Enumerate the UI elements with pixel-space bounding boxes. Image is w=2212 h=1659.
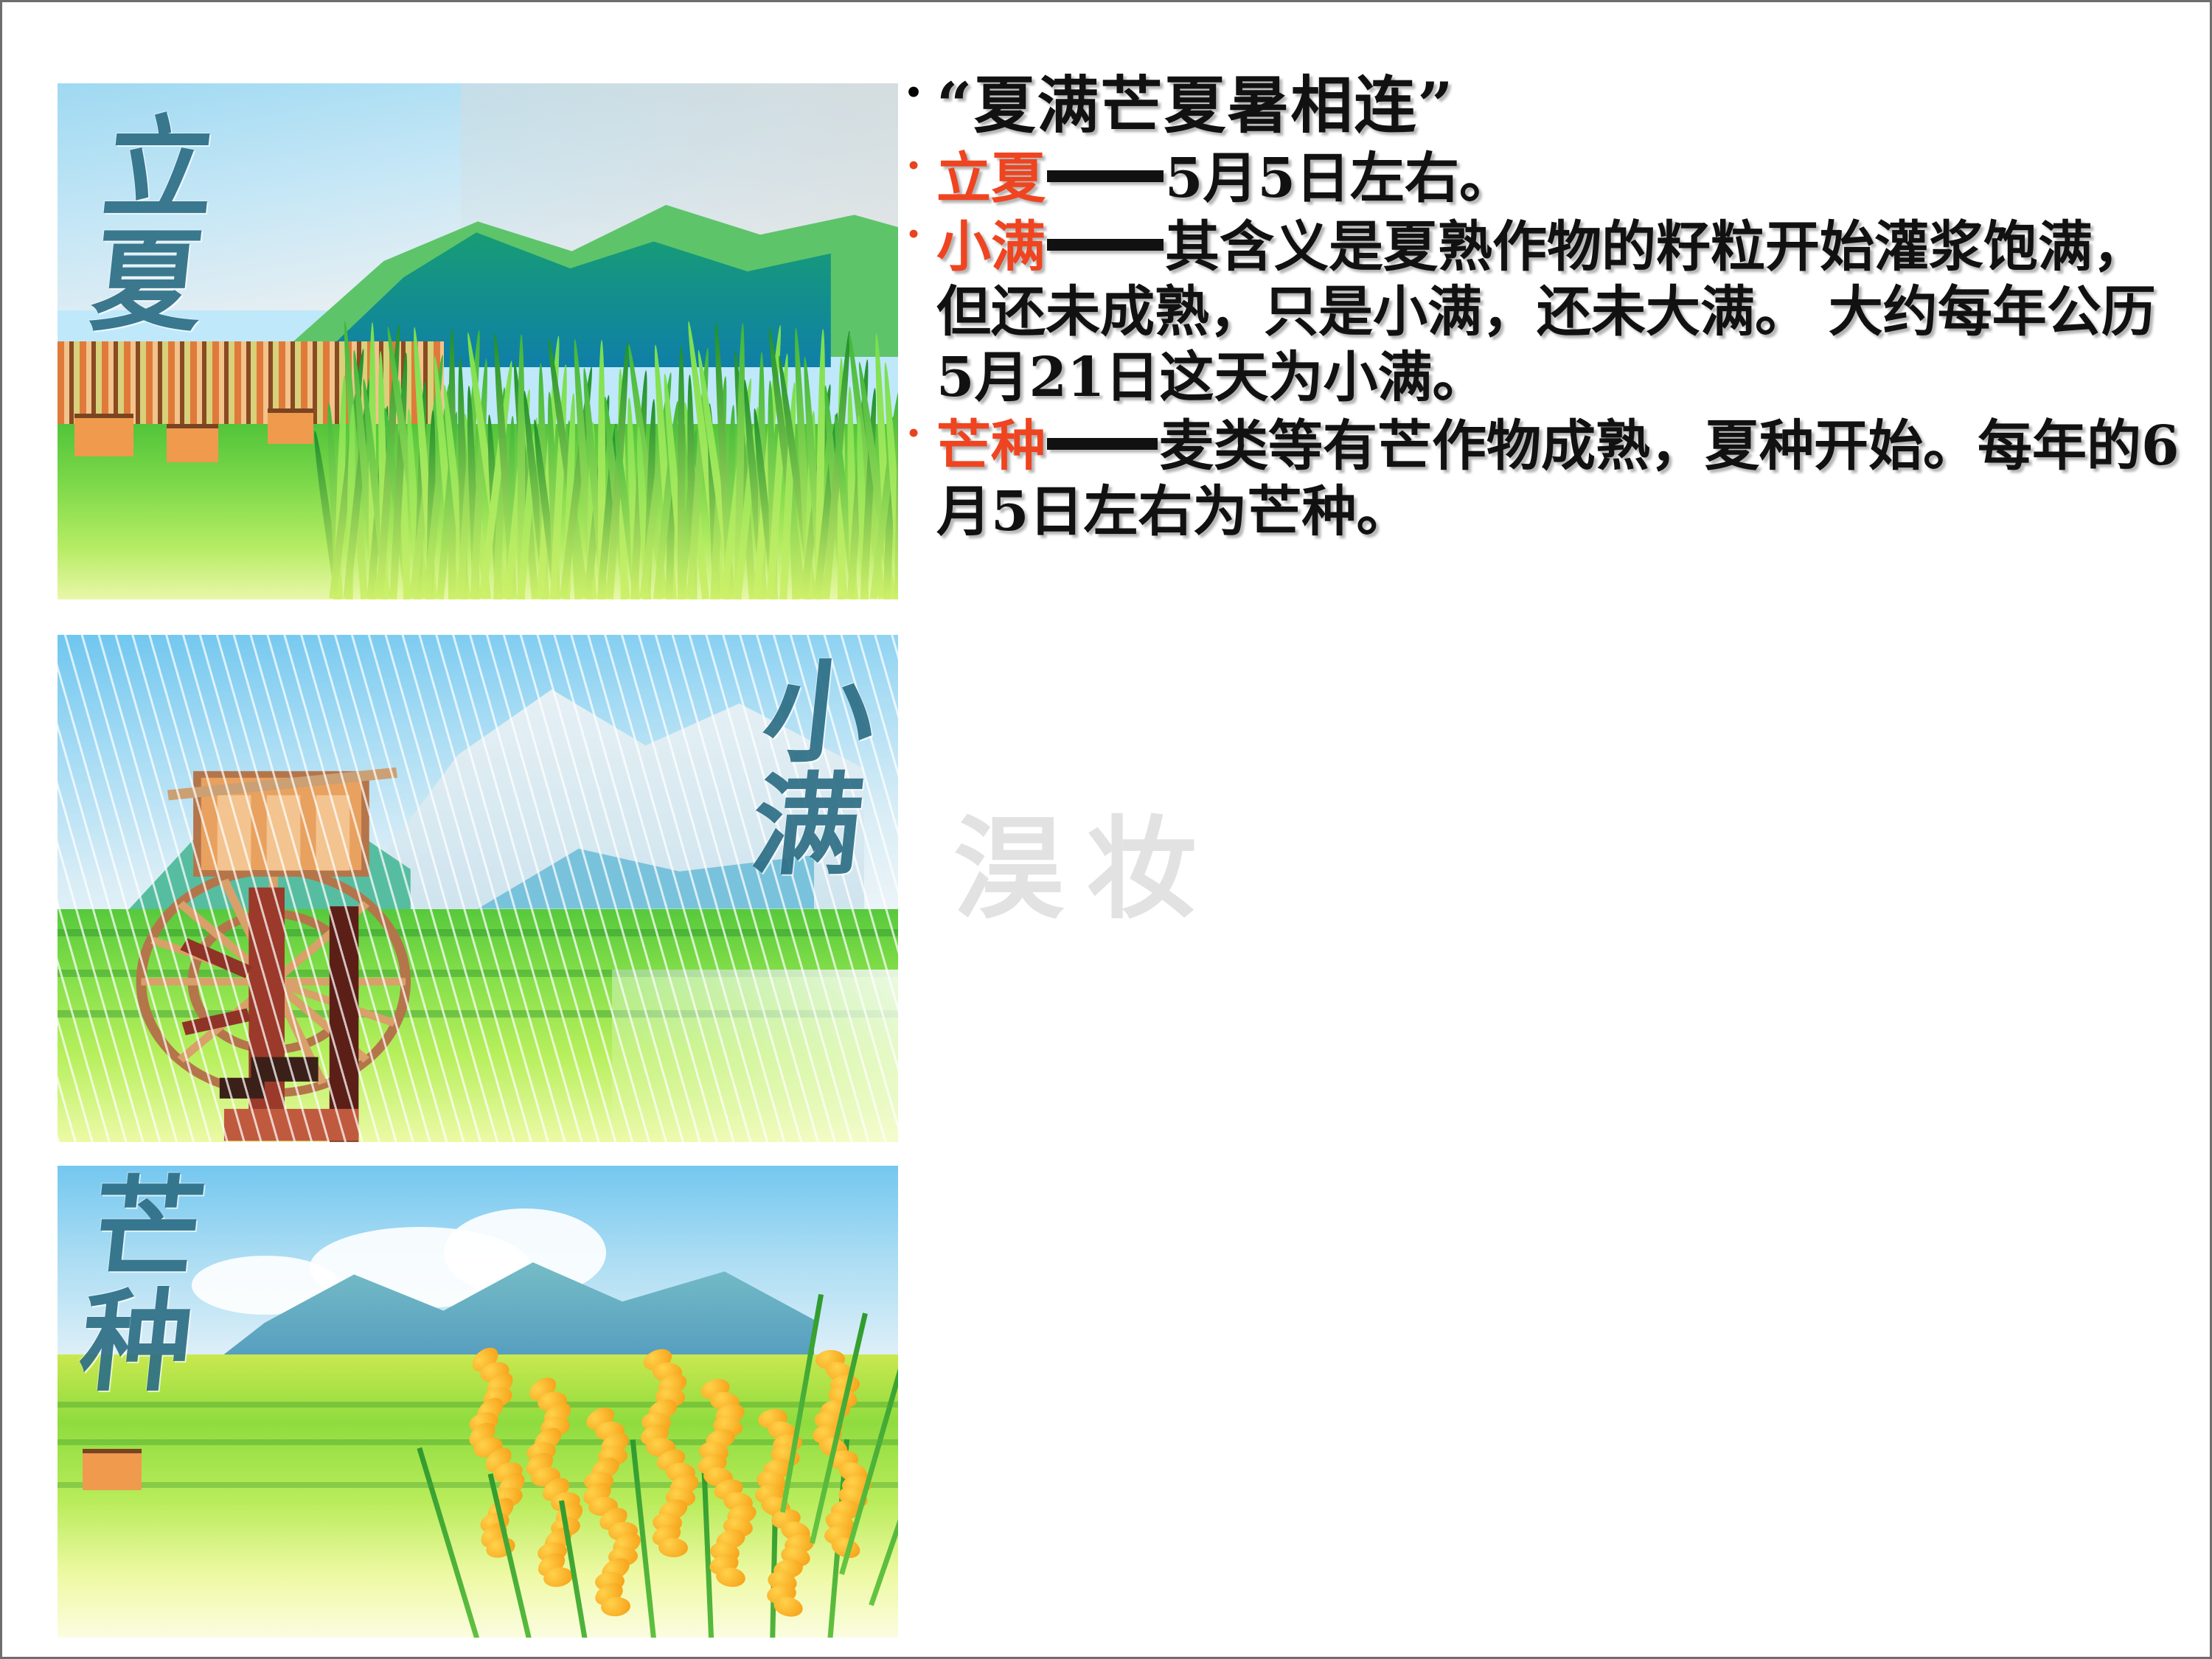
bullet-marker: • (891, 215, 936, 253)
xiaoman-line: 小满其含义是夏熟作物的籽粒开始灌浆饱满，但还未成熟，只是小满，还未大满。 大约每… (936, 215, 2188, 411)
bullet-mangzhong: • 芒种麦类等有芒作物成熟，夏种开始。每年的6月5日左右为芒种。 (891, 414, 2188, 545)
content-column: • “夏满芒夏暑相连” • 立夏5月5日左右。 • 小满其含义是夏熟作物的籽粒开… (891, 69, 2188, 548)
house (83, 1449, 142, 1490)
bullet-proverb: • “夏满芒夏暑相连” (891, 69, 2188, 143)
slide-canvas: 立 夏 (0, 0, 2212, 1659)
house (167, 424, 218, 462)
proverb-text: “夏满芒夏暑相连” (936, 69, 2188, 143)
bullet-marker: • (891, 146, 936, 184)
bullet-marker: • (891, 69, 936, 116)
illustration-column: 立 夏 (58, 2, 898, 1659)
mangzhong-body: 麦类等有芒作物成熟，夏种开始。每年的6月5日左右为芒种。 (936, 414, 2180, 543)
mangzhong-illustration[interactable]: 芒 种 (58, 1166, 898, 1638)
watermark: 淏妆 (953, 780, 1219, 940)
xiaoman-illustration[interactable]: 小 满 (58, 635, 898, 1142)
em-dash-rule (1047, 438, 1158, 450)
xiaoman-term: 小满 (936, 215, 1046, 279)
bullet-xiaoman: • 小满其含义是夏熟作物的籽粒开始灌浆饱满，但还未成熟，只是小满，还未大满。 大… (891, 215, 2188, 411)
mangzhong-term: 芒种 (936, 414, 1046, 478)
house (74, 414, 133, 456)
xiaoman-calligraphy: 小 满 (746, 657, 880, 883)
em-dash-rule (1047, 239, 1164, 251)
em-dash-rule (1047, 170, 1164, 182)
lixia-body: 5月5日左右。 (1165, 147, 1514, 210)
mangzhong-line: 芒种麦类等有芒作物成熟，夏种开始。每年的6月5日左右为芒种。 (936, 414, 2188, 545)
lixia-illustration[interactable]: 立 夏 (58, 83, 898, 599)
lixia-line: 立夏5月5日左右。 (936, 146, 2188, 212)
bullet-marker: • (891, 414, 936, 452)
bullet-lixia: • 立夏5月5日左右。 (891, 146, 2188, 212)
lixia-term: 立夏 (936, 147, 1046, 210)
house (268, 408, 313, 444)
